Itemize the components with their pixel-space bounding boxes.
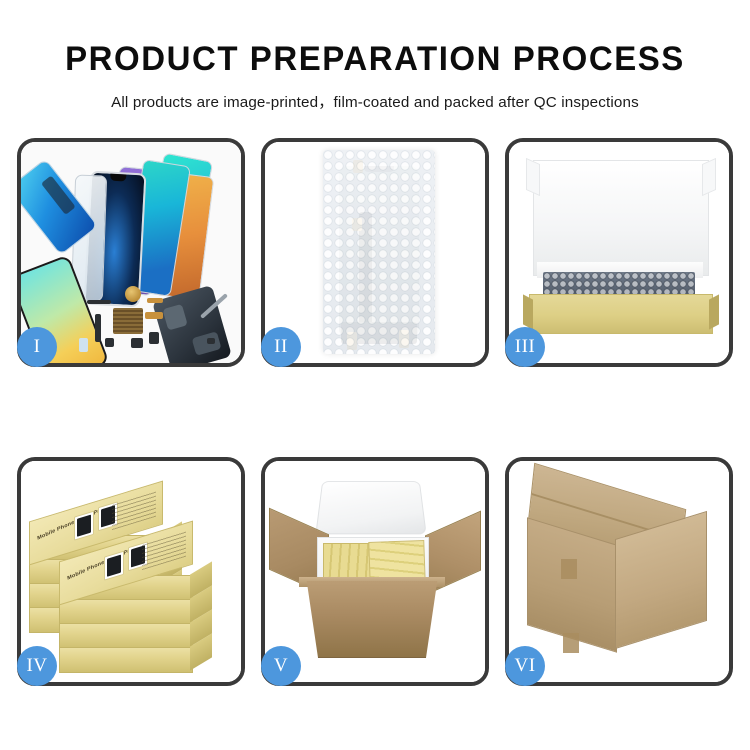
white-box-lid-icon: [533, 160, 709, 276]
process-step-panel-6: VI: [505, 457, 733, 686]
part-flex-icon: [147, 298, 163, 303]
process-steps-grid: I II: [17, 138, 733, 686]
page-header: PRODUCT PREPARATION PROCESS All products…: [0, 0, 750, 112]
step-badge-4: IV: [17, 646, 57, 686]
part-button-icon: [105, 338, 114, 347]
step-badge-5-label: V: [274, 655, 288, 677]
connector-strip-icon: [341, 322, 417, 344]
stacked-box-edge: [59, 623, 193, 649]
part-chip-icon: [87, 300, 111, 304]
product-preparation-process-page: PRODUCT PREPARATION PROCESS All products…: [0, 0, 750, 750]
page-subtitle: All products are image-printed，film-coat…: [0, 78, 750, 112]
process-step-panel-4: Mobile Phone Spare Parts Mobile Phone Sp…: [17, 457, 245, 686]
step-badge-5: V: [261, 646, 301, 686]
foam-lid-icon: [315, 481, 426, 534]
carton-body-icon: [301, 581, 443, 658]
step-badge-1: I: [17, 327, 57, 367]
step-5-image: [265, 461, 485, 682]
step-badge-2-label: II: [274, 336, 288, 358]
part-camera-icon: [131, 338, 143, 348]
part-sim-tray-icon: [79, 338, 88, 352]
page-title: PRODUCT PREPARATION PROCESS: [11, 0, 739, 78]
box-spec-lines-icon: [112, 491, 156, 530]
part-connector-icon: [145, 312, 163, 319]
step-badge-6-label: VI: [514, 655, 535, 677]
wrapped-screen-icon: [339, 166, 419, 338]
tape-piece-icon: [353, 160, 363, 173]
box-screen-print-icon: [104, 551, 124, 581]
process-step-panel-5: V: [261, 457, 489, 686]
tape-piece-icon: [352, 218, 362, 231]
step-badge-6: VI: [505, 646, 545, 686]
box-screen-print-icon: [74, 511, 94, 541]
step-badge-1-label: I: [34, 336, 41, 358]
carton-tape-square-icon: [561, 559, 577, 579]
carton-tape-square-icon: [563, 633, 579, 653]
part-speaker-icon: [149, 332, 159, 344]
step-2-image: [265, 142, 485, 363]
step-badge-2: II: [261, 327, 301, 367]
box-stack-icon: Mobile Phone Spare Parts Mobile Phone Sp…: [27, 483, 233, 671]
part-screw-icon: [207, 338, 215, 344]
step-badge-4-label: IV: [26, 655, 47, 677]
yellow-box-base-icon: [529, 294, 713, 334]
phone-parts-scene: [21, 142, 241, 363]
stacked-box-edge: [59, 647, 193, 673]
bubble-wrap-bag-icon: [323, 150, 435, 354]
step-badge-3: III: [505, 327, 545, 367]
screen-flex-cable-icon: [359, 212, 372, 330]
speaker-coil-icon: [125, 286, 141, 302]
process-step-panel-2: II: [261, 138, 489, 367]
step-1-image: [21, 142, 241, 363]
part-board-icon: [113, 308, 143, 334]
step-4-image: Mobile Phone Spare Parts Mobile Phone Sp…: [21, 461, 241, 682]
tape-piece-icon: [399, 330, 409, 348]
step-3-image: [509, 142, 729, 363]
stacked-box-edge: [59, 599, 193, 625]
process-step-panel-1: I: [17, 138, 245, 367]
process-step-panel-3: III: [505, 138, 733, 367]
step-badge-3-label: III: [515, 336, 535, 358]
step-6-image: [509, 461, 729, 682]
tape-piece-icon: [347, 332, 357, 350]
part-cable-icon: [95, 314, 101, 342]
box-spec-lines-icon: [142, 531, 186, 570]
